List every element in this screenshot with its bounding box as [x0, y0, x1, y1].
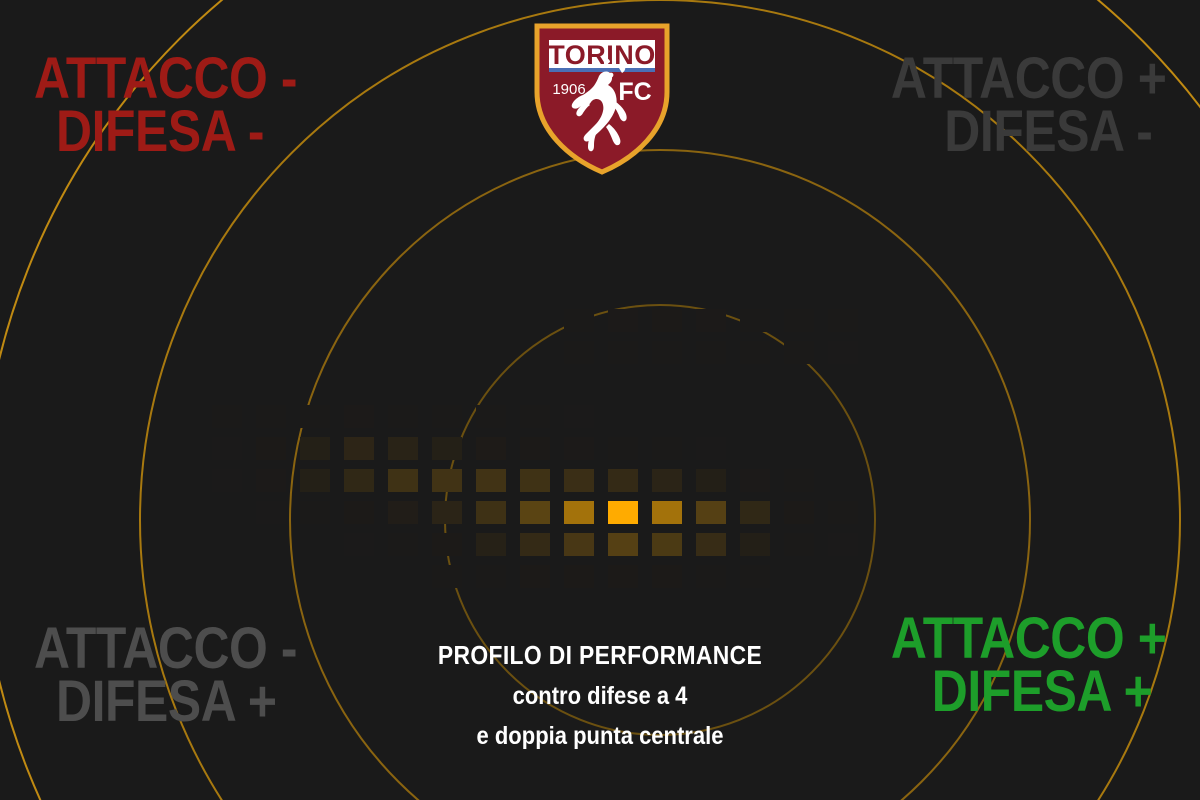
- heatmap-cell: [476, 533, 506, 556]
- heatmap-cell: [520, 437, 550, 460]
- heatmap-cell: [740, 437, 770, 460]
- heatmap-cell: [608, 309, 638, 332]
- heatmap-cell: [740, 533, 770, 556]
- heatmap-cell: [344, 469, 374, 492]
- quadrant-top-right-defense: DIFESA -: [889, 105, 1152, 158]
- heatmap-cell: [476, 501, 506, 524]
- heatmap-cell: [432, 437, 462, 460]
- heatmap-cell: [608, 437, 638, 460]
- heatmap-cell: [652, 501, 682, 524]
- heatmap-cell: [344, 501, 374, 524]
- heatmap-cell: [740, 341, 770, 364]
- heatmap-cell: [388, 437, 418, 460]
- heatmap-cell: [432, 533, 462, 556]
- heatmap-cell: [652, 437, 682, 460]
- heatmap-cell: [784, 565, 814, 588]
- heatmap-cell: [564, 341, 594, 364]
- heatmap-cell: [476, 469, 506, 492]
- heatmap-cell: [388, 469, 418, 492]
- heatmap-cell: [432, 469, 462, 492]
- heatmap-cell: [520, 565, 550, 588]
- heatmap-cell: [740, 501, 770, 524]
- heatmap-cell: [696, 309, 726, 332]
- quadrant-top-right-attack: ATTACCO +: [890, 52, 1166, 105]
- quadrant-label-top-left: ATTACCO - DIFESA -: [34, 52, 340, 159]
- quadrant-label-top-right: ATTACCO + DIFESA -: [846, 52, 1166, 159]
- heatmap-cell: [520, 501, 550, 524]
- heatmap-cell: [476, 405, 506, 428]
- heatmap-cell: [696, 565, 726, 588]
- caption-subtitle-1: contro difese a 4: [72, 682, 1128, 711]
- heatmap-cell: [520, 469, 550, 492]
- heatmap-cell: [564, 533, 594, 556]
- svg-text:TORINO: TORINO: [548, 40, 656, 70]
- heatmap-cell: [256, 501, 286, 524]
- heatmap-cell: [520, 405, 550, 428]
- heatmap-cell: [212, 437, 242, 460]
- heatmap-cell: [256, 437, 286, 460]
- heatmap-cell: [300, 405, 330, 428]
- svg-text:FC: FC: [618, 78, 651, 106]
- heatmap-cell: [652, 469, 682, 492]
- heatmap-cell: [256, 405, 286, 428]
- torino-fc-crest: TORINO 1906 FC: [531, 18, 673, 178]
- heatmap-cell: [608, 501, 638, 524]
- heatmap-cell: [256, 469, 286, 492]
- heatmap-cell: [828, 341, 858, 364]
- heatmap-cell: [696, 533, 726, 556]
- heatmap-cell: [476, 565, 506, 588]
- heatmap-cell: [740, 309, 770, 332]
- heatmap-cell: [784, 533, 814, 556]
- performance-profile-graphic: TORINO 1906 FC ATTACCO - DIF: [0, 0, 1200, 800]
- heatmap-cell: [564, 565, 594, 588]
- heatmap-cell: [564, 469, 594, 492]
- heatmap-cell: [784, 341, 814, 364]
- heatmap-cell: [784, 501, 814, 524]
- heatmap-cell: [388, 533, 418, 556]
- heatmap-cell: [696, 501, 726, 524]
- heatmap-cell: [740, 469, 770, 492]
- heatmap-cell: [388, 565, 418, 588]
- heatmap-cell: [212, 405, 242, 428]
- heatmap-cell: [300, 469, 330, 492]
- heatmap-cell: [300, 533, 330, 556]
- heatmap-cell: [344, 437, 374, 460]
- heatmap-cell: [652, 341, 682, 364]
- heatmap-cell: [388, 405, 418, 428]
- quadrant-top-left-defense: DIFESA -: [56, 105, 300, 158]
- heatmap-cell: [828, 309, 858, 332]
- heatmap-cell: [828, 533, 858, 556]
- heatmap-cell: [212, 469, 242, 492]
- heatmap-cell: [696, 437, 726, 460]
- heatmap-cell: [652, 565, 682, 588]
- svg-text:1906: 1906: [552, 81, 585, 98]
- heatmap-cell: [608, 565, 638, 588]
- quadrant-top-left-attack: ATTACCO -: [34, 52, 297, 105]
- heatmap-cell: [828, 501, 858, 524]
- heatmap-cell: [344, 533, 374, 556]
- caption-subtitle-2: e doppia punta centrale: [72, 722, 1128, 751]
- heatmap-cell: [476, 437, 506, 460]
- heatmap-cell: [344, 405, 374, 428]
- heatmap-cell: [432, 405, 462, 428]
- heatmap-cell: [784, 469, 814, 492]
- heatmap-cell: [564, 309, 594, 332]
- heatmap-cell: [784, 309, 814, 332]
- heatmap-cell: [828, 469, 858, 492]
- heatmap-cell: [564, 437, 594, 460]
- heatmap-cell: [696, 469, 726, 492]
- heatmap-cell: [300, 501, 330, 524]
- heatmap-cell: [520, 533, 550, 556]
- caption-block: PROFILO DI PERFORMANCE contro difese a 4…: [0, 640, 1200, 751]
- heatmap-cell: [696, 341, 726, 364]
- heatmap-cell: [652, 309, 682, 332]
- heatmap-cell: [608, 341, 638, 364]
- heatmap-cell: [608, 405, 638, 428]
- heatmap-cell: [608, 469, 638, 492]
- heatmap-cell: [300, 437, 330, 460]
- heatmap-cell: [740, 565, 770, 588]
- heatmap-cell: [388, 501, 418, 524]
- heatmap-cell: [652, 533, 682, 556]
- heatmap-cell: [432, 565, 462, 588]
- heatmap-cell: [564, 405, 594, 428]
- caption-title: PROFILO DI PERFORMANCE: [72, 640, 1128, 671]
- heatmap-cell: [608, 533, 638, 556]
- heatmap-cell: [564, 501, 594, 524]
- heatmap-cell: [432, 501, 462, 524]
